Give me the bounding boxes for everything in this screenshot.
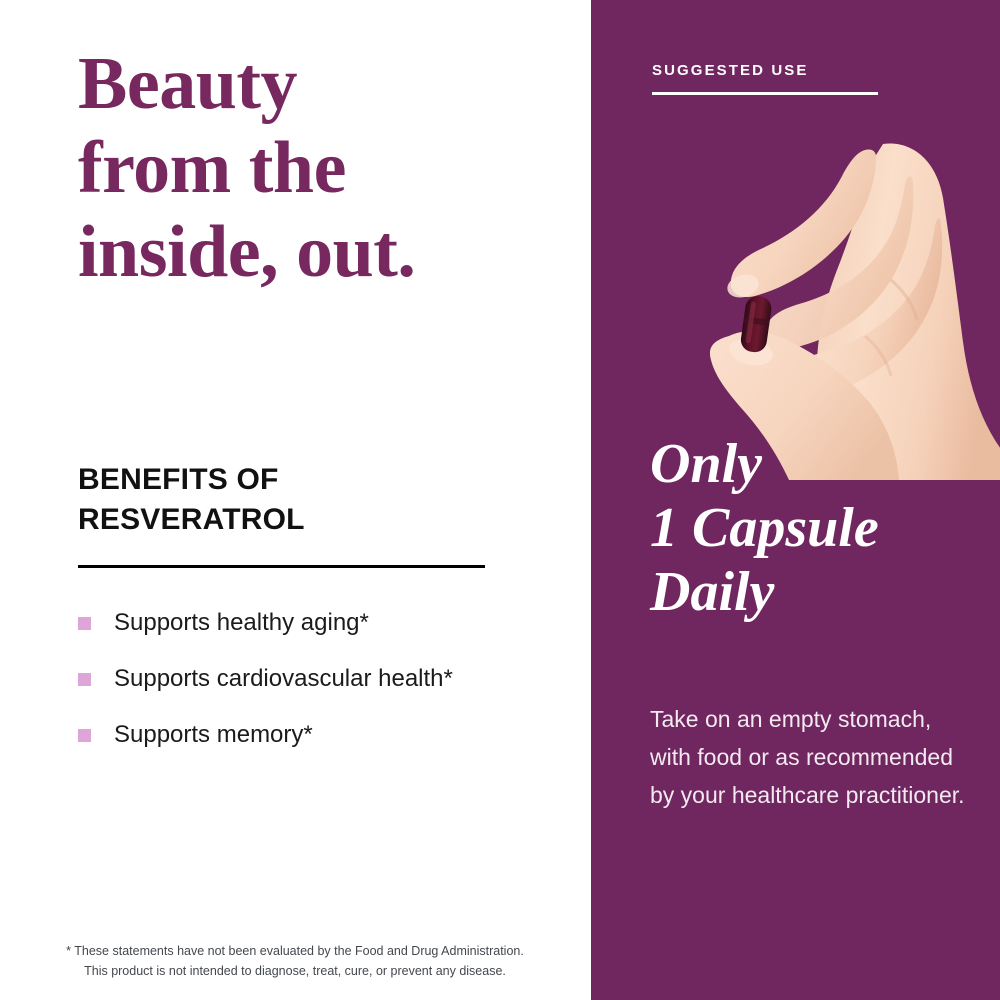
hand-holding-capsule-image: [651, 100, 1000, 480]
headline-line-1: Beauty: [78, 42, 548, 126]
suggested-use-panel: SUGGESTED USE: [591, 0, 1000, 1000]
headline-line-3: inside, out.: [78, 210, 548, 294]
list-item: Supports healthy aging*: [78, 606, 518, 640]
benefits-divider-rule: [78, 565, 485, 568]
benefit-text: Supports healthy aging*: [114, 609, 369, 636]
dose-headline-line-2: 1 Capsule: [650, 496, 990, 560]
benefits-heading-line-1: BENEFITS OF: [78, 460, 508, 500]
bullet-square-icon: [78, 617, 91, 630]
benefits-heading: BENEFITS OF RESVERATROL: [78, 460, 508, 540]
dose-instructions: Take on an empty stomach, with food or a…: [650, 700, 970, 814]
product-benefits-graphic: Beauty from the inside, out. BENEFITS OF…: [0, 0, 1000, 1000]
page-headline: Beauty from the inside, out.: [78, 42, 548, 294]
dose-headline: Only 1 Capsule Daily: [650, 432, 990, 624]
list-item: Supports cardiovascular health*: [78, 662, 518, 696]
section-label: SUGGESTED USE: [652, 62, 809, 79]
benefits-heading-line-2: RESVERATROL: [78, 500, 508, 540]
benefits-list: Supports healthy aging* Supports cardiov…: [78, 606, 518, 774]
bullet-square-icon: [78, 673, 91, 686]
dose-headline-line-1: Only: [650, 432, 990, 496]
list-item: Supports memory*: [78, 718, 518, 752]
dose-headline-line-3: Daily: [650, 560, 990, 624]
benefit-text: Supports memory*: [114, 721, 313, 748]
disclaimer-line-1: * These statements have not been evaluat…: [30, 941, 560, 961]
benefit-text: Supports cardiovascular health*: [114, 665, 453, 692]
headline-line-2: from the: [78, 126, 548, 210]
fda-disclaimer: * These statements have not been evaluat…: [30, 941, 560, 981]
bullet-square-icon: [78, 729, 91, 742]
left-panel: Beauty from the inside, out. BENEFITS OF…: [0, 0, 591, 1000]
disclaimer-line-2: This product is not intended to diagnose…: [30, 961, 560, 981]
section-label-rule: [652, 92, 878, 95]
